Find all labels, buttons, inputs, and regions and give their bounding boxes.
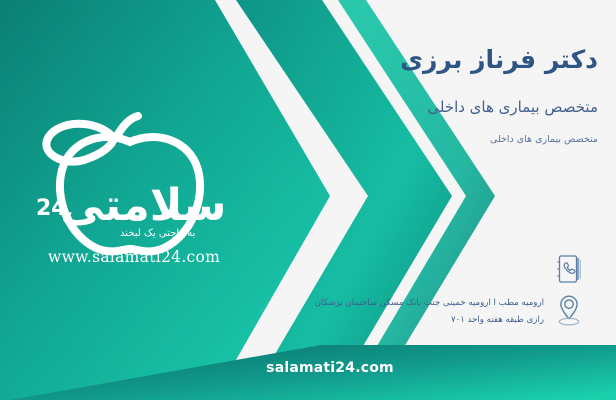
logo-tagline: به راحتی یک لبخند xyxy=(120,228,195,239)
doctor-specialty: متخصص بیماری های داخلی xyxy=(427,98,598,116)
logo-website-url: www.salamati24.com xyxy=(48,248,220,266)
logo-badge-24: 24 xyxy=(36,196,67,221)
doctor-specialty-small: متخصص بیماری های داخلی xyxy=(490,134,598,145)
logo-brand-word: سلامتی xyxy=(60,180,226,231)
clinic-address: ارومیه مطب ا ارومیه خمینی جنب بانک مسکن … xyxy=(299,295,544,329)
apple-stem-icon xyxy=(116,116,138,138)
location-pin-icon xyxy=(554,293,584,327)
doctor-name: دکتر فرناز برزی xyxy=(400,45,598,74)
business-card: سلامتی 24 به راحتی یک لبخند www.salamati… xyxy=(0,0,616,400)
phone-book-icon xyxy=(556,254,582,284)
doctor-info-panel: دکتر فرناز برزی متخصص بیماری های داخلی م… xyxy=(286,0,616,400)
footer-website: salamati24.com xyxy=(0,360,616,376)
